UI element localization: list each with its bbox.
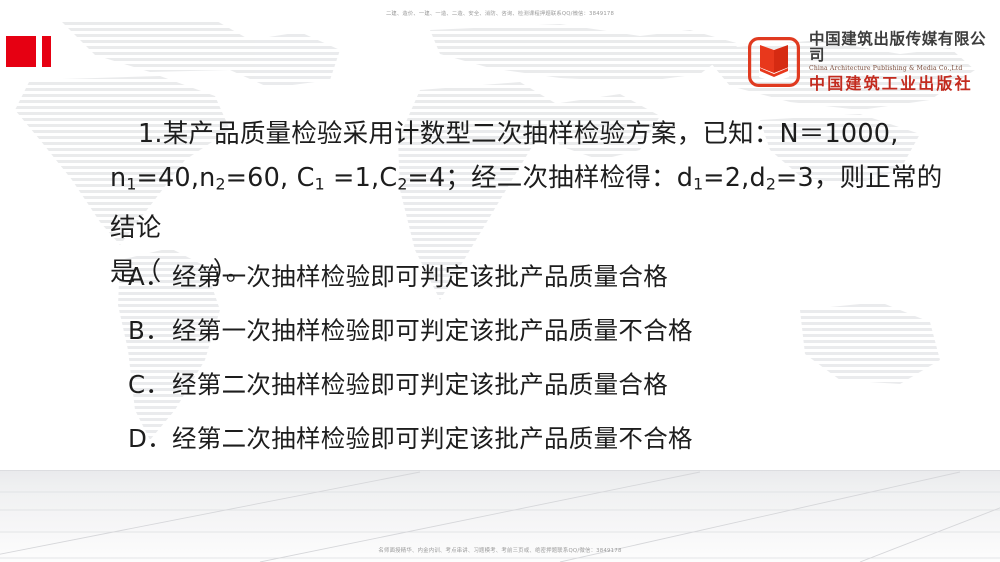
param-n2-sub: 2 xyxy=(216,174,226,193)
option-c-text: 经第二次抽样检验即可判定该批产品质量合格 xyxy=(172,366,668,401)
option-b[interactable]: B． 经第一次抽样检验即可判定该批产品质量不合格 xyxy=(128,312,958,366)
publisher-logo: 中国建筑出版传媒有限公司 China Architecture Publishi… xyxy=(748,32,1000,92)
option-a-letter: A． xyxy=(128,258,172,293)
option-d-letter: D． xyxy=(128,420,172,455)
option-b-text: 经第一次抽样检验即可判定该批产品质量不合格 xyxy=(172,312,693,347)
option-c-letter: C． xyxy=(128,366,172,401)
question-line1-value: N＝1000, xyxy=(780,119,899,149)
param-c2-base: C xyxy=(379,163,397,193)
footer-note: 名师面授精华、内金内训、考点串讲、习题模考、考前三页或、绝密押题联系QQ/微信：… xyxy=(0,546,1000,554)
param-n1-value: =40, xyxy=(136,163,199,193)
param-n1-base: n xyxy=(110,163,126,193)
param-d2-sub: 2 xyxy=(766,174,776,193)
param-n2-base: n xyxy=(199,163,215,193)
param-n2-value: =60, xyxy=(226,163,297,193)
param-c1-base: C xyxy=(297,163,315,193)
question-line1-prefix: 1.某产品质量检验采用计数型二次抽样检验方案，已知： xyxy=(138,119,780,149)
option-d-text: 经第二次抽样检验即可判定该批产品质量不合格 xyxy=(172,420,693,455)
option-a[interactable]: A． 经第一次抽样检验即可判定该批产品质量合格 xyxy=(128,258,958,312)
answer-options: A． 经第一次抽样检验即可判定该批产品质量合格 B． 经第一次抽样检验即可判定该… xyxy=(128,258,958,474)
slide-canvas: 二建、造价、一建、一造、二造、安全、消防、咨询、检测课程押题联系QQ/微信：38… xyxy=(0,0,1000,562)
header-note: 二建、造价、一建、一造、二造、安全、消防、咨询、检测课程押题联系QQ/微信：38… xyxy=(0,9,1000,17)
red-bar-mark xyxy=(42,36,51,67)
param-c1-value: =1, xyxy=(325,163,380,193)
logo-company-cn: 中国建筑出版传媒有限公司 xyxy=(809,32,1000,63)
option-a-text: 经第一次抽样检验即可判定该批产品质量合格 xyxy=(172,258,668,293)
param-n1-sub: 1 xyxy=(126,174,136,193)
param-d1-sub: 1 xyxy=(693,174,703,193)
option-b-letter: B． xyxy=(128,312,172,347)
param-d2-base: d xyxy=(749,163,765,193)
open-book-logo-icon xyxy=(748,37,800,87)
logo-company-en: China Architecture Publishing & Media Co… xyxy=(809,66,1000,72)
logo-press-cn: 中国建筑工业出版社 xyxy=(809,76,1000,92)
option-c[interactable]: C． 经第二次抽样检验即可判定该批产品质量合格 xyxy=(128,366,958,420)
param-c2-value: =4；经二次抽样检得： xyxy=(407,163,676,193)
red-square-mark xyxy=(6,36,36,67)
param-d1-base: d xyxy=(677,163,693,193)
param-d1-value: =2, xyxy=(703,163,749,193)
option-d[interactable]: D． 经第二次抽样检验即可判定该批产品质量不合格 xyxy=(128,420,958,474)
param-c2-sub: 2 xyxy=(397,174,407,193)
param-c1-sub: 1 xyxy=(315,174,325,193)
